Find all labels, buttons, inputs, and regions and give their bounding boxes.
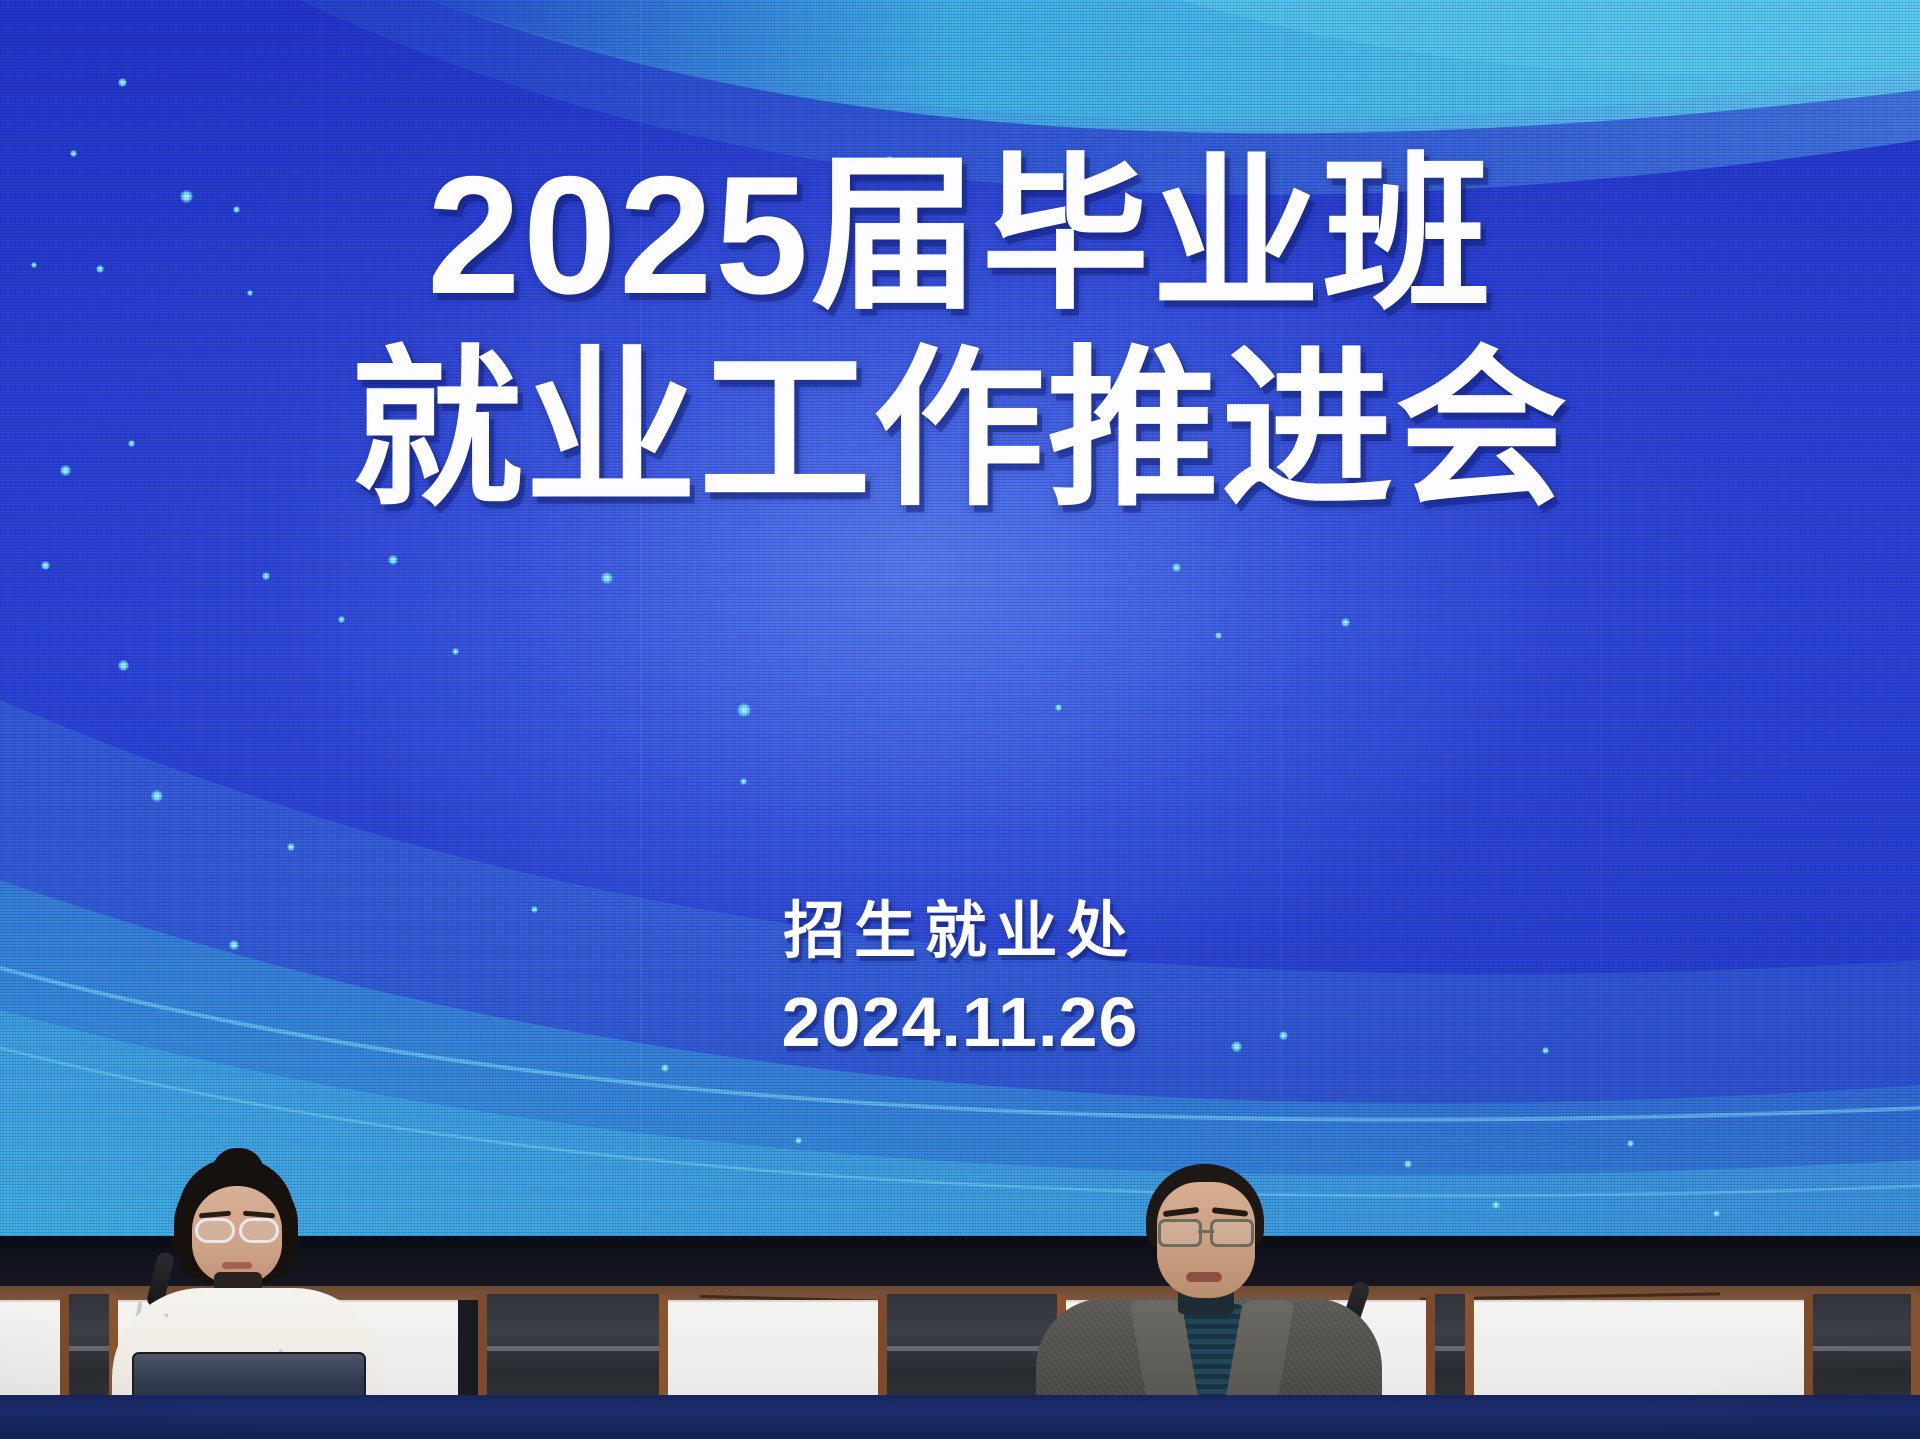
mouth — [222, 1262, 252, 1269]
title-line-1: 2025届毕业班 — [0, 150, 1920, 321]
led-backdrop-screen: 2025届毕业班 就业工作推进会 招生就业处 2024.11.26 — [0, 0, 1920, 1236]
backdrop-title: 2025届毕业班 就业工作推进会 — [0, 150, 1920, 519]
eyeglass-lens — [239, 1218, 279, 1243]
eyeglass-lens — [1158, 1219, 1202, 1247]
eyeglass-lens — [1210, 1219, 1254, 1247]
eyeglass-bridge — [1198, 1230, 1214, 1233]
subtitle-date: 2024.11.26 — [0, 982, 1920, 1062]
conference-photo: 2025届毕业班 就业工作推进会 招生就业处 2024.11.26 — [0, 0, 1920, 1439]
backdrop-subtitle: 招生就业处 2024.11.26 — [0, 880, 1920, 1062]
mouth — [1186, 1272, 1222, 1282]
title-line-2: 就业工作推进会 — [0, 343, 1920, 518]
table-cloth — [0, 1395, 1920, 1439]
eyeglass-lens — [195, 1218, 235, 1243]
subtitle-organization: 招生就业处 — [0, 880, 1920, 970]
